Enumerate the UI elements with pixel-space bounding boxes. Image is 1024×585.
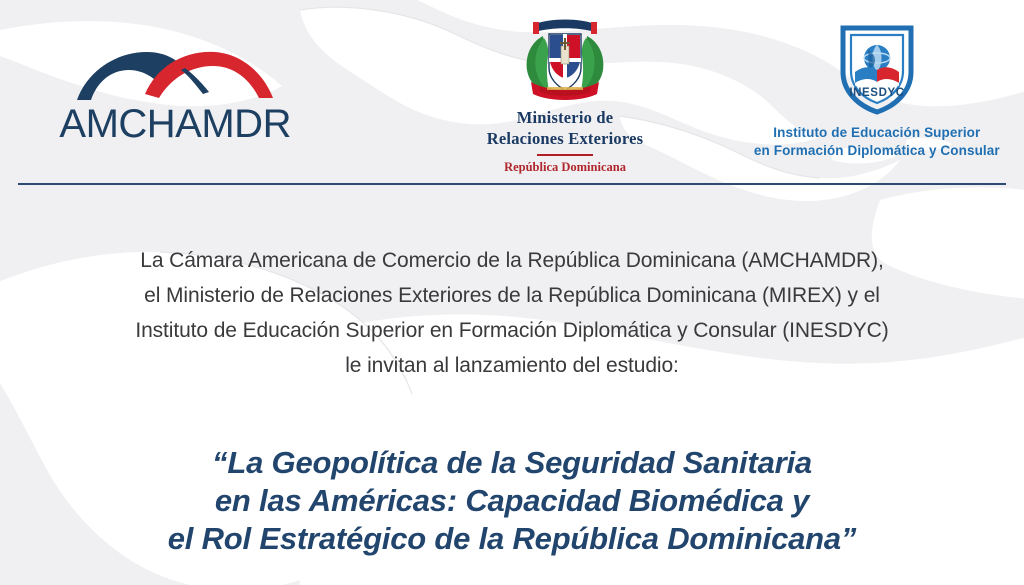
invitation-line: La Cámara Americana de Comercio de la Re…: [0, 243, 1024, 278]
mirex-red-rule: [537, 154, 593, 156]
mirex-title: Ministerio de Relaciones Exteriores: [487, 108, 643, 149]
invitation-line: Instituto de Educación Superior en Forma…: [0, 313, 1024, 348]
study-title-line: “La Geopolítica de la Seguridad Sanitari…: [0, 444, 1024, 482]
mirex-subtitle: República Dominicana: [504, 160, 626, 175]
mirex-title-line-2: Relaciones Exteriores: [487, 129, 643, 148]
invitation-line: el Ministerio de Relaciones Exteriores d…: [0, 278, 1024, 313]
inesdyc-caption-line-2: en Formación Diplomática y Consular: [754, 143, 1000, 158]
inesdyc-logo: INESDYC Instituto de Educación Superior …: [730, 0, 1024, 160]
study-title-line: en las Américas: Capacidad Biomédica y: [0, 482, 1024, 520]
inesdyc-caption-line-1: Instituto de Educación Superior: [773, 125, 980, 140]
amchamdr-double-arc-logo-icon: [75, 50, 275, 102]
svg-text:INESDYC: INESDYC: [849, 87, 904, 99]
dominican-republic-coat-of-arms-icon: [517, 16, 613, 102]
invitation-line: le invitan al lanzamiento del estudio:: [0, 348, 1024, 383]
header-divider-rule: [18, 183, 1006, 185]
amchamdr-logo: AMCHAMDR: [28, 0, 322, 144]
invitation-body-text: La Cámara Americana de Comercio de la Re…: [0, 243, 1024, 383]
mirex-logo: Ministerio de Relaciones Exteriores Repú…: [442, 0, 687, 175]
amchamdr-wordmark: AMCHAMDR: [59, 104, 291, 144]
invitation-poster: AMCHAMDR: [0, 0, 1024, 585]
inesdyc-caption: Instituto de Educación Superior en Forma…: [754, 124, 1000, 160]
organizer-logo-band: AMCHAMDR: [0, 0, 1024, 183]
inesdyc-shield-globe-book-emblem-icon: INESDYC: [835, 20, 919, 116]
study-title: “La Geopolítica de la Seguridad Sanitari…: [0, 444, 1024, 558]
study-title-line: el Rol Estratégico de la República Domin…: [0, 520, 1024, 558]
mirex-title-line-1: Ministerio de: [517, 108, 614, 127]
